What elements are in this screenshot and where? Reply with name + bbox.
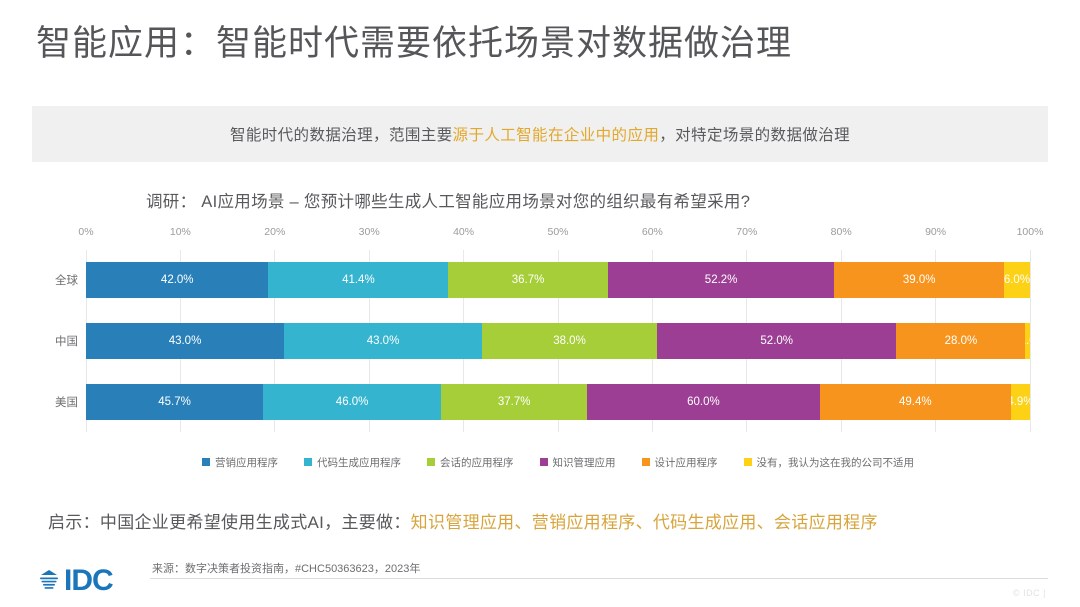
category-label: 中国 [55,333,78,349]
insight-highlight: 知识管理应用、营销应用程序、代码生成应用、会话应用程序 [411,513,878,532]
x-tick-label: 20% [264,226,285,238]
bar-segment: 42.0% [86,262,268,298]
bar-row: 全球42.0%41.4%36.7%52.2%39.0%6.0% [86,262,1030,298]
legend-label: 代码生成应用程序 [317,455,401,470]
bar-row: 美国45.7%46.0%37.7%60.0%49.4%4.9% [86,384,1030,420]
chart-x-axis: 0%10%20%30%40%50%60%70%80%90%100% [86,226,1030,246]
bar-segment: 52.2% [608,262,835,298]
legend-swatch-icon [642,458,650,466]
category-label: 全球 [55,272,78,288]
bar-segment: 38.0% [482,323,657,359]
copyright-note: © IDC | [1013,588,1046,598]
insight-text-before: 启示：中国企业更希望使用生成式AI，主要做： [48,513,411,532]
legend-label: 营销应用程序 [215,455,278,470]
legend-item[interactable]: 代码生成应用程序 [304,455,401,470]
x-tick-label: 70% [736,226,757,238]
bar-segment: 45.7% [86,384,263,420]
bar-segment: 41.4% [268,262,448,298]
legend-item[interactable]: 设计应用程序 [642,455,718,470]
legend-label: 设计应用程序 [655,455,718,470]
category-label: 美国 [55,394,78,410]
subtitle-banner: 智能时代的数据治理，范围主要源于人工智能在企业中的应用，对特定场景的数据做治理 [32,106,1048,162]
legend-item[interactable]: 会话的应用程序 [427,455,514,470]
subtitle-highlight: 源于人工智能在企业中的应用 [453,123,660,145]
legend-label: 知识管理应用 [553,455,616,470]
slide-root: 智能应用：智能时代需要依托场景对数据做治理 智能时代的数据治理，范围主要源于人工… [0,0,1080,607]
page-title: 智能应用：智能时代需要依托场景对数据做治理 [36,22,792,66]
stacked-bar-chart: 0%10%20%30%40%50%60%70%80%90%100% 全球42.0… [32,226,1048,472]
legend-item[interactable]: 营销应用程序 [202,455,278,470]
legend-item[interactable]: 没有，我认为这在我的公司不适用 [744,455,915,470]
bar-segment: 36.7% [448,262,607,298]
legend-swatch-icon [202,458,210,466]
bar-segment: 4.9% [1011,384,1030,420]
bar-segment: 39.0% [834,262,1003,298]
idc-wordmark: IDC [64,566,113,596]
x-tick-label: 100% [1017,226,1044,238]
bar-segment: 49.4% [820,384,1011,420]
bar-segment: 46.0% [263,384,441,420]
x-tick-label: 80% [831,226,852,238]
legend-label: 没有，我认为这在我的公司不适用 [757,455,915,470]
bar-segment: 37.7% [441,384,587,420]
legend-swatch-icon [427,458,435,466]
x-tick-label: 90% [925,226,946,238]
bar-segment: 60.0% [587,384,819,420]
bar-segment: 6.0% [1004,262,1030,298]
bar-segment: 43.0% [284,323,482,359]
subtitle-text-before: 智能时代的数据治理，范围主要 [230,123,453,145]
x-tick-label: 10% [170,226,191,238]
x-tick-label: 50% [547,226,568,238]
bar-segment: 1.0 [1025,323,1030,359]
idc-mark-icon [36,568,62,594]
subtitle-text: 智能时代的数据治理，范围主要源于人工智能在企业中的应用，对特定场景的数据做治理 [32,106,1048,162]
legend-item[interactable]: 知识管理应用 [540,455,616,470]
bar-row: 中国43.0%43.0%38.0%52.0%28.0%1.0 [86,323,1030,359]
bar-segment: 43.0% [86,323,284,359]
subtitle-text-after: ，对特定场景的数据做治理 [659,123,850,145]
x-tick-label: 40% [453,226,474,238]
x-tick-label: 60% [642,226,663,238]
x-tick-label: 30% [359,226,380,238]
legend-label: 会话的应用程序 [440,455,514,470]
legend-swatch-icon [304,458,312,466]
legend-swatch-icon [540,458,548,466]
idc-logo: IDC [36,566,113,596]
chart-legend: 营销应用程序代码生成应用程序会话的应用程序知识管理应用设计应用程序没有，我认为这… [86,452,1030,472]
footer-divider [150,578,1048,579]
legend-swatch-icon [744,458,752,466]
source-note: 来源：数字决策者投资指南，#CHC50363623，2023年 [152,560,420,576]
bar-segment: 28.0% [896,323,1025,359]
x-tick-label: 0% [78,226,93,238]
bar-segment: 52.0% [657,323,896,359]
chart-question: 调研： AI应用场景 – 您预计哪些生成人工智能应用场景对您的组织最有希望采用? [146,188,750,212]
insight-line: 启示：中国企业更希望使用生成式AI，主要做：知识管理应用、营销应用程序、代码生成… [48,508,878,533]
chart-plot-area: 全球42.0%41.4%36.7%52.2%39.0%6.0%中国43.0%43… [86,250,1030,432]
